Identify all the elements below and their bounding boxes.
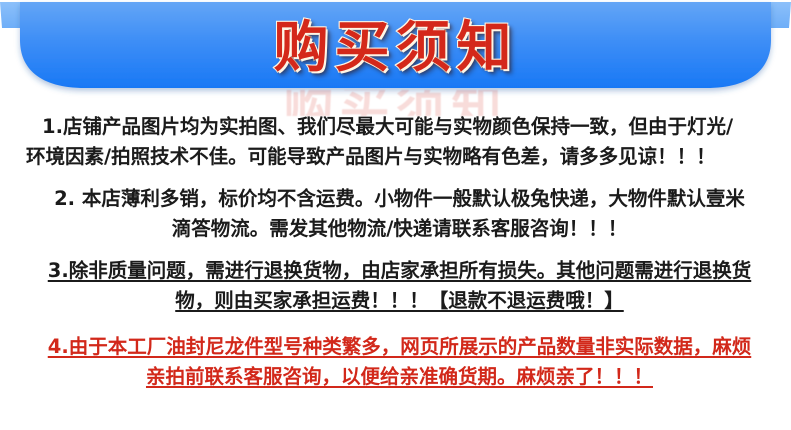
- notice-4-line-1: 4.由于本工厂油封尼龙件型号种类繁多，网页所展示的产品数量非实际数据，麻烦: [24, 332, 775, 362]
- notice-item-2: 2. 本店薄利多销，标价均不含运费。小物件一般默认极兔快递，大物件默认壹米 滴答…: [0, 184, 791, 244]
- notice-4-line-2: 亲拍前联系客服咨询，以便给亲准确货期。麻烦亲了！！！: [24, 362, 775, 392]
- notice-1-line-1: 1.店铺产品图片均为实拍图、我们尽最大可能与实物颜色保持一致，但由于灯光/: [26, 112, 781, 142]
- notice-list: 1.店铺产品图片均为实拍图、我们尽最大可能与实物颜色保持一致，但由于灯光/ 环境…: [0, 112, 791, 400]
- notice-1-line-2: 环境因素/拍照技术不佳。可能导致产品图片与实物略有色差，请多多见谅！！！: [26, 142, 781, 172]
- notice-item-1: 1.店铺产品图片均为实拍图、我们尽最大可能与实物颜色保持一致，但由于灯光/ 环境…: [0, 112, 791, 172]
- notice-2-line-2: 滴答物流。需发其他物流/快递请联系客服咨询！！！: [24, 214, 775, 244]
- notice-2-line-1: 2. 本店薄利多销，标价均不含运费。小物件一般默认极兔快递，大物件默认壹米: [24, 184, 775, 214]
- notice-item-4: 4.由于本工厂油封尼龙件型号种类繁多，网页所展示的产品数量非实际数据，麻烦 亲拍…: [0, 332, 791, 392]
- header-banner: 购买须知: [0, 0, 791, 100]
- notice-3-line-2: 物，则由买家承担运费！！！【退款不退运费哦！】: [24, 286, 775, 316]
- banner-ribbon-shape: [0, 0, 791, 100]
- notice-item-3: 3.除非质量问题，需进行退换货物，由店家承担所有损失。其他问题需进行退换货 物，…: [0, 256, 791, 316]
- notice-3-line-1: 3.除非质量问题，需进行退换货物，由店家承担所有损失。其他问题需进行退换货: [24, 256, 775, 286]
